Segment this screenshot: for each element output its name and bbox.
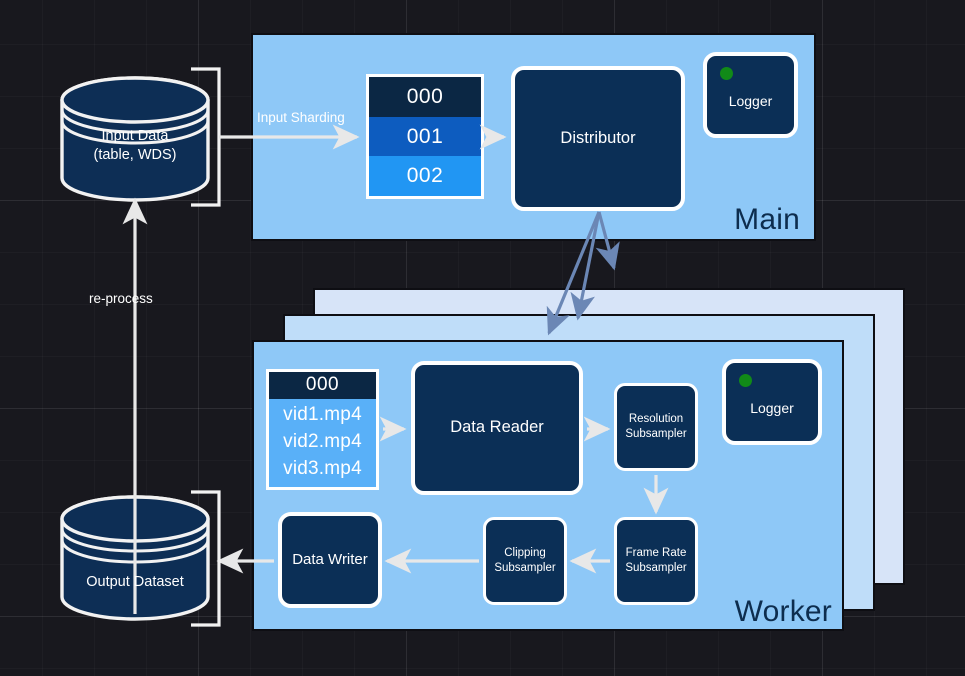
output-dataset-label: Output Dataset	[62, 573, 208, 592]
re-process-label: re-process	[89, 291, 153, 306]
arrows-distributor-to-workers	[549, 212, 614, 333]
diagram-canvas: Main 000 001 002 Distributor Logger Work…	[0, 0, 965, 676]
input-data-label: Input Data (table, WDS)	[62, 127, 208, 165]
input-sharding-label: Input Sharding	[257, 110, 345, 125]
